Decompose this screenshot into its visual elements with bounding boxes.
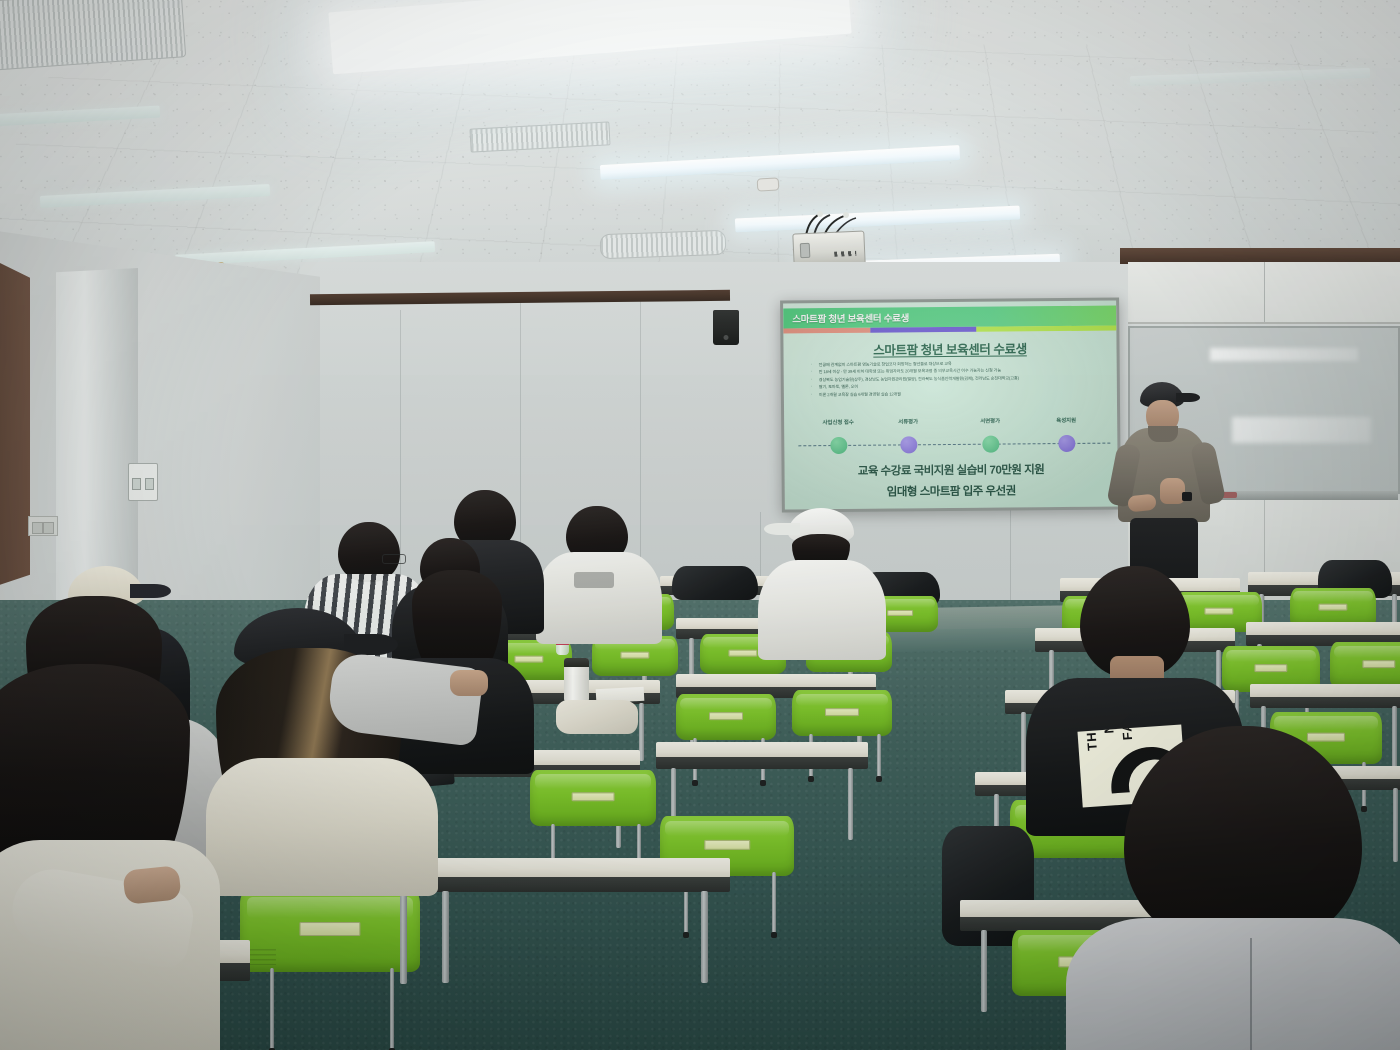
chair[interactable] <box>676 694 776 740</box>
timeline-node-1 <box>830 437 847 454</box>
timeline-node-2 <box>900 436 917 453</box>
chair-label <box>1362 660 1395 668</box>
switch-left-icon[interactable] <box>132 478 141 490</box>
presenter-cap-brim <box>1176 393 1200 402</box>
timeline-node-3 <box>982 436 999 453</box>
chair-legs <box>254 968 410 1050</box>
student-hand <box>122 865 181 905</box>
desk-top <box>420 858 730 878</box>
student-head <box>1124 726 1362 946</box>
whiteboard-glare-lower <box>1232 417 1371 443</box>
desk-top <box>1250 684 1400 698</box>
chair-label <box>1254 664 1287 672</box>
chair[interactable] <box>530 770 656 826</box>
timeline-label-1: 사업신청 접수 <box>822 418 853 426</box>
student-white-tee <box>536 552 662 644</box>
whiteboard-glare-upper <box>1210 348 1357 361</box>
student-arm-sleeve <box>326 651 484 747</box>
chair-label <box>572 792 615 802</box>
cap-brim <box>764 523 800 535</box>
projection-screen: 스마트팜 청년 보육센터 수료생 스마트팜 청년 보육센터 수료생 전공에 관계… <box>780 298 1121 513</box>
chair[interactable] <box>792 690 892 736</box>
student-gray-hoodie-arm <box>330 640 490 840</box>
wall-outlet[interactable] <box>28 516 58 536</box>
chair[interactable] <box>1330 642 1400 688</box>
slide-timeline: 사업신청 접수 서류평가 서면평가 육성지원 <box>798 413 1110 460</box>
chair-label <box>704 840 750 850</box>
slide-header-label: 스마트팜 청년 보육센터 수료생 <box>792 310 909 325</box>
tumbler <box>564 658 589 702</box>
student-gray-hoodie-front <box>1078 726 1400 1050</box>
timeline-label-3: 서면평가 <box>980 417 1000 425</box>
switch-right-icon[interactable] <box>145 478 154 490</box>
presenter-hand-right <box>1160 478 1185 504</box>
student-hand <box>450 670 488 696</box>
wall-speaker <box>713 310 739 345</box>
desk-leg <box>981 930 987 1012</box>
slide-stripe-lime <box>976 326 1116 332</box>
desk <box>420 858 730 944</box>
slide-footer-line-1: 교육 수강료 국비지원 실습비 70만원 지원 <box>785 461 1118 480</box>
desk-edge <box>420 877 730 892</box>
classroom-photo: 스마트팜 청년 보육센터 수료생 스마트팜 청년 보육센터 수료생 전공에 관계… <box>0 0 1400 1050</box>
chair-leg <box>270 968 274 1050</box>
hoodie-seam <box>1250 938 1252 1050</box>
chair-vent-slots <box>247 949 276 965</box>
slide-stripe-purple <box>870 327 977 333</box>
slide-stripe-salmon <box>783 328 870 334</box>
desk-leg <box>701 891 708 983</box>
chair-leg <box>390 968 394 1050</box>
chair-label <box>825 708 859 716</box>
desk <box>656 742 868 814</box>
slide-content: 스마트팜 청년 보육센터 수료생 스마트팜 청년 보육센터 수료생 전공에 관계… <box>783 301 1118 510</box>
student-white-cap-center <box>752 508 892 658</box>
student-white-tee-center <box>536 506 664 636</box>
slide-title: 스마트팜 청년 보육센터 수료생 <box>783 338 1116 360</box>
student-front-left <box>0 664 240 1050</box>
smoke-detector-icon <box>757 177 780 191</box>
chair-label <box>709 712 743 720</box>
left-wall-trim <box>0 258 30 588</box>
desk-leg <box>400 884 407 984</box>
chair-label <box>620 652 649 659</box>
desk-edge <box>1250 697 1400 708</box>
chair-leg <box>877 734 881 778</box>
hvac-vent-lower <box>600 230 727 259</box>
overhead-cabinet[interactable] <box>1128 262 1400 324</box>
slide-footer-line-2: 임대형 스마트팜 입주 우선권 <box>785 482 1118 501</box>
student-white-tee <box>758 560 886 660</box>
folded-cloth <box>556 700 638 734</box>
desk-leg <box>442 891 449 983</box>
slide-bullet: 이론 2개월 교육장 실습 6개월 경영형 실습 12개월 <box>810 388 1102 398</box>
desk-top <box>1246 622 1400 636</box>
student-hoodie <box>1066 918 1400 1050</box>
desk-top <box>676 674 876 688</box>
wall-control-panel[interactable] <box>128 463 158 501</box>
shirt-print <box>574 572 614 588</box>
desk-leg <box>848 768 853 840</box>
backpack <box>672 566 758 600</box>
desk-edge <box>656 757 868 769</box>
slide-bullet-list: 전공에 관계없이 스마트팜 영농기술로 창업코자 희망하는 청년들로 대상으로 … <box>810 359 1102 399</box>
chair-leg <box>772 872 776 934</box>
presenter-collar <box>1148 426 1178 442</box>
timeline-node-4 <box>1058 435 1075 452</box>
timeline-label-4: 육성지원 <box>1056 416 1076 424</box>
projector-ports-icon <box>834 251 856 257</box>
chair-label <box>1318 604 1347 611</box>
projector-lens-icon <box>800 243 811 258</box>
presenter-watch <box>1182 492 1192 501</box>
timeline-label-2: 서류평가 <box>898 417 918 425</box>
desk-top <box>656 742 868 758</box>
